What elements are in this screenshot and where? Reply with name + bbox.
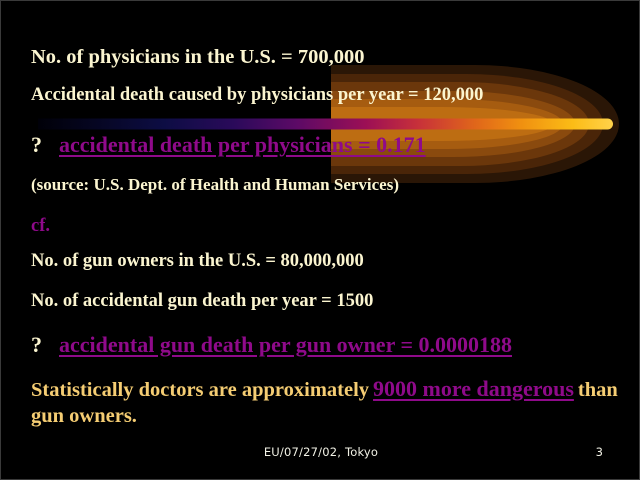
conclusion-highlight: 9000 more dangerous [373,376,574,401]
text-line-accidental-death-physicians: Accidental death caused by physicians pe… [31,84,483,107]
slide-footer: EU/07/27/02, Tokyo 3 [1,445,640,463]
slide-canvas: No. of physicians in the U.S. = 700,000 … [0,0,640,480]
conclusion-part-1: Statistically doctors are approximately [31,379,369,401]
text-line-conclusion: Statistically doctors are approximately … [31,375,631,429]
text-line-ratio-physicians: ? accidental death per physicians = 0.17… [31,131,426,159]
text-line-cf: cf. [31,215,50,238]
highlight-ratio-physicians: accidental death per physicians = 0.171 [59,132,426,157]
question-mark-icon-2: ? [31,332,42,357]
question-mark-icon: ? [31,132,42,157]
text-line-ratio-gun: ? accidental gun death per gun owner = 0… [31,331,512,359]
text-line-accidental-gun-death: No. of accidental gun death per year = 1… [31,290,373,313]
text-line-source: (source: U.S. Dept. of Health and Human … [31,174,399,195]
text-line-gun-owners-count: No. of gun owners in the U.S. = 80,000,0… [31,250,364,273]
highlight-ratio-gun: accidental gun death per gun owner = 0.0… [59,332,512,357]
text-line-physicians-count: No. of physicians in the U.S. = 700,000 [31,45,364,71]
glow-ring-outer [331,65,619,183]
footer-page-number: 3 [596,445,603,459]
comet-gradient-bar [38,119,613,130]
comet-decoration [331,63,631,185]
footer-event-label: EU/07/27/02, Tokyo [1,445,640,459]
